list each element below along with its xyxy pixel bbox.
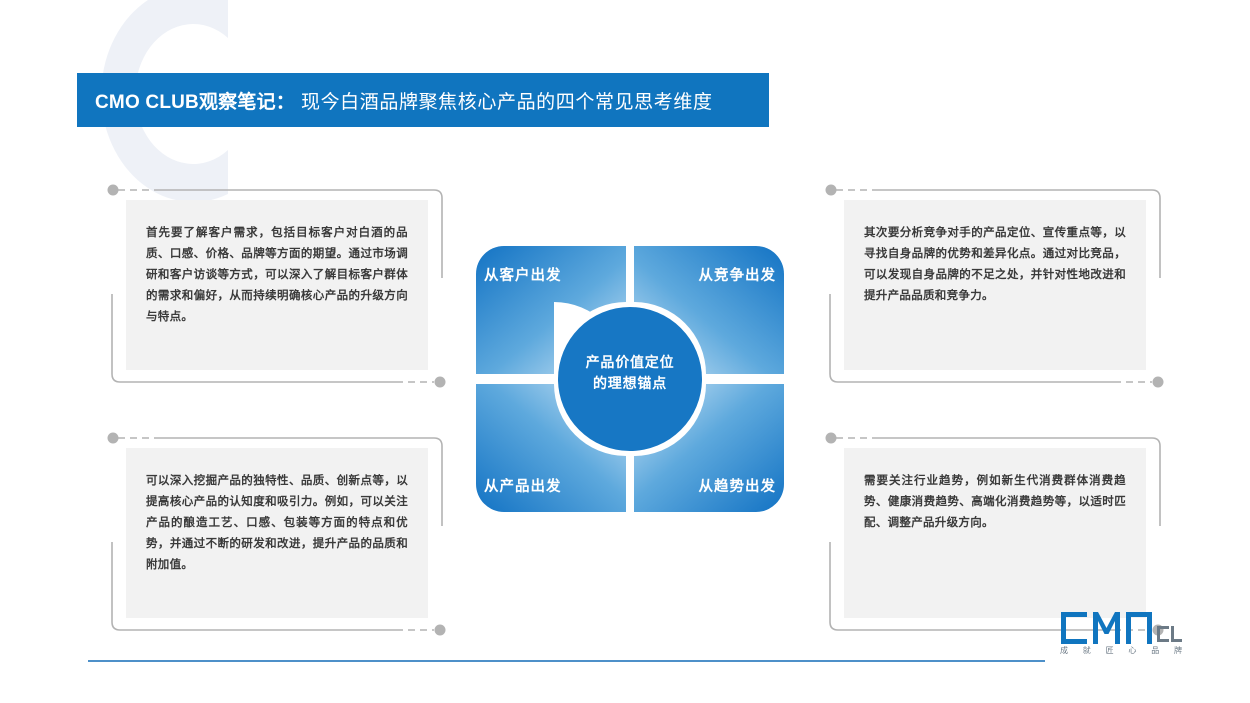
bracket-end-dot (1153, 377, 1164, 388)
note-body-competition: 其次要分析竞争对手的产品定位、宣传重点等，以寻找自身品牌的优势和差异化点。通过对… (844, 200, 1146, 370)
petal-label-competition: 从竞争出发 (699, 264, 777, 285)
slide-canvas: CMO CLUB观察笔记： 现今白酒品牌聚焦核心产品的四个常见思考维度 首先要了… (0, 0, 1250, 703)
page-title-subtitle: 现今白酒品牌聚焦核心产品的四个常见思考维度 (301, 87, 713, 114)
note-text-customer: 首先要了解客户需求，包括目标客户对白酒的品质、口感、价格、品牌等方面的期望。通过… (146, 222, 408, 327)
note-text-trend: 需要关注行业趋势，例如新生代消费群体消费趋势、健康消费趋势、高端化消费趋势等，以… (864, 470, 1126, 533)
note-card-competition: 其次要分析竞争对手的产品定位、宣传重点等，以寻找自身品牌的优势和差异化点。通过对… (822, 186, 1168, 386)
slide-title-bar: CMO CLUB观察笔记： 现今白酒品牌聚焦核心产品的四个常见思考维度 (77, 73, 769, 127)
petal-label-customer: 从客户出发 (484, 264, 562, 285)
petal-label-product: 从产品出发 (484, 475, 562, 496)
petal-label-trend: 从趋势出发 (699, 475, 777, 496)
note-text-competition: 其次要分析竞争对手的产品定位、宣传重点等，以寻找自身品牌的优势和差异化点。通过对… (864, 222, 1126, 306)
center-circle (558, 307, 702, 451)
note-body-trend: 需要关注行业趋势，例如新生代消费群体消费趋势、健康消费趋势、高端化消费趋势等，以… (844, 448, 1146, 618)
logo-tagline: 成 就 匠 心 品 牌 (1060, 645, 1182, 656)
bracket-start-dot (826, 433, 837, 444)
note-body-customer: 首先要了解客户需求，包括目标客户对白酒的品质、口感、价格、品牌等方面的期望。通过… (126, 200, 428, 370)
bracket-start-dot (826, 185, 837, 196)
four-petal-diagram: 从客户出发 从竞争出发 从产品出发 从趋势出发 产品价值定位 的理想锚点 (470, 240, 790, 518)
bracket-end-dot (435, 377, 446, 388)
tagline-char-3: 心 (1128, 645, 1136, 656)
note-card-trend: 需要关注行业趋势，例如新生代消费群体消费趋势、健康消费趋势、高端化消费趋势等，以… (822, 434, 1168, 634)
tagline-char-5: 牌 (1174, 645, 1182, 656)
page-title-strong: CMO CLUB观察笔记： (95, 87, 295, 114)
note-body-product: 可以深入挖掘产品的独特性、品质、创新点等，以提高核心产品的认知度和吸引力。例如，… (126, 448, 428, 618)
bracket-start-dot (108, 185, 119, 196)
note-card-customer: 首先要了解客户需求，包括目标客户对白酒的品质、口感、价格、品牌等方面的期望。通过… (104, 186, 450, 386)
note-card-product: 可以深入挖掘产品的独特性、品质、创新点等，以提高核心产品的认知度和吸引力。例如，… (104, 434, 450, 634)
bracket-start-dot (108, 433, 119, 444)
tagline-char-2: 匠 (1106, 645, 1114, 656)
note-text-product: 可以深入挖掘产品的独特性、品质、创新点等，以提高核心产品的认知度和吸引力。例如，… (146, 470, 408, 575)
footer-divider (88, 660, 1045, 662)
tagline-char-1: 就 (1083, 645, 1091, 656)
tagline-char-0: 成 (1060, 645, 1068, 656)
bracket-end-dot (435, 625, 446, 636)
tagline-char-4: 品 (1151, 645, 1159, 656)
